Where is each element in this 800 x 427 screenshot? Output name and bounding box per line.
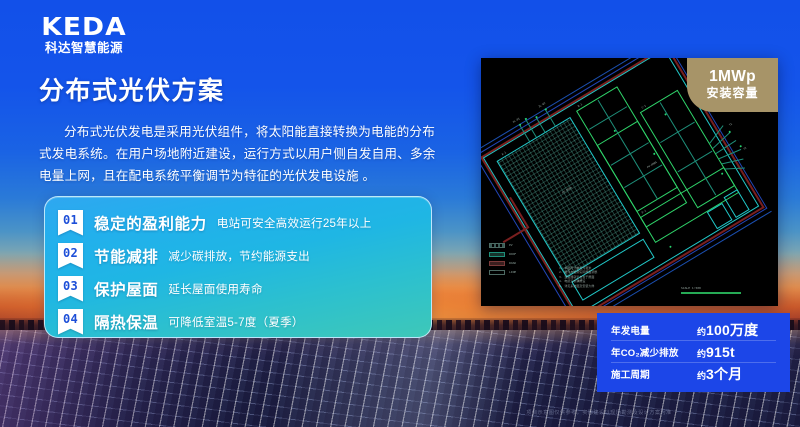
stat-value: 约915t <box>697 344 735 360</box>
cad-scale-bar: SCALE 1:500 <box>681 286 741 294</box>
footer-disclaimer-text: 项目示意图仅供参考，实际建设以现场勘测及设计方案为准 <box>526 409 671 417</box>
stat-row: 年CO₂减少排放 约915t <box>611 341 776 363</box>
stat-row: 年发电量 约100万度 <box>611 319 776 341</box>
feature-desc: 电站可安全高效运行25年以上 <box>217 215 372 231</box>
stat-prefix: 约 <box>697 327 706 337</box>
brand-logo: KEDA 科达智慧能源 <box>24 14 144 55</box>
cad-legend: PV ROOF ROAD LINE <box>489 242 545 278</box>
stat-prefix: 约 <box>697 349 706 359</box>
stats-panel: 年发电量 约100万度 年CO₂减少排放 约915t 施工周期 约3个月 <box>597 313 790 392</box>
capacity-badge: 1MWp 安装容量 <box>687 58 778 112</box>
stat-number: 100万度 <box>706 322 758 338</box>
cad-notes: 1. 本图尺寸单位为毫米 2. 组件布置按实际屋面调整 3. 逆变器就近布置于屋… <box>559 266 679 288</box>
intro-paragraph: 分布式光伏发电是采用光伏组件，将太阳能直接转换为电能的分布式发电系统。在用户场地… <box>39 121 444 187</box>
capacity-label: 安装容量 <box>706 86 758 101</box>
feature-item: 01 稳定的盈利能力 电站可安全高效运行25年以上 <box>45 206 431 239</box>
brand-logo-name: 科达智慧能源 <box>24 41 144 55</box>
feature-list-panel: 01 稳定的盈利能力 电站可安全高效运行25年以上 02 节能减排 减少碳排放，… <box>44 196 432 338</box>
feature-desc: 延长屋面使用寿命 <box>168 281 262 297</box>
feature-item: 02 节能减排 减少碳排放，节约能源支出 <box>45 239 431 272</box>
feature-title: 隔热保温 <box>94 311 158 333</box>
feature-title: 节能减排 <box>94 245 158 267</box>
stat-number: 3个月 <box>706 366 742 382</box>
feature-desc: 减少碳排放，节约能源支出 <box>168 248 310 264</box>
stat-label: 年CO₂减少排放 <box>611 345 697 359</box>
stat-number: 915t <box>706 344 735 360</box>
stat-value: 约100万度 <box>697 320 758 340</box>
number-badge-icon: 02 <box>58 243 83 269</box>
stat-label: 施工周期 <box>611 367 697 381</box>
brand-logo-mark: KEDA <box>20 14 147 40</box>
feature-number: 02 <box>63 243 78 263</box>
stat-value: 约3个月 <box>697 364 742 384</box>
feature-title: 稳定的盈利能力 <box>94 212 207 234</box>
feature-number: 04 <box>63 309 78 329</box>
feature-number: 03 <box>63 276 78 296</box>
number-badge-icon: 03 <box>58 276 83 302</box>
number-badge-icon: 01 <box>58 210 83 236</box>
number-badge-icon: 04 <box>58 309 83 335</box>
feature-desc: 可降低室温5-7度（夏季） <box>168 314 303 330</box>
slide-canvas: KEDA 科达智慧能源 分布式光伏方案 分布式光伏发电是采用光伏组件，将太阳能直… <box>0 0 800 427</box>
stat-label: 年发电量 <box>611 323 697 337</box>
stat-row: 施工周期 约3个月 <box>611 363 776 385</box>
footer-disclaimer: 项目示意图仅供参考，实际建设以现场勘测及设计方案为准 <box>0 409 800 417</box>
feature-number: 01 <box>63 210 78 230</box>
feature-title: 保护屋面 <box>94 278 158 300</box>
cad-site-plan-image: JL-01 JL-02 A-1 B-1 C-1 D-1 PV-AREA PV-A… <box>481 58 778 306</box>
stat-prefix: 约 <box>697 371 706 381</box>
feature-item: 03 保护屋面 延长屋面使用寿命 <box>45 272 431 305</box>
page-title: 分布式光伏方案 <box>39 76 225 106</box>
capacity-value: 1MWp <box>709 68 756 86</box>
feature-item: 04 隔热保温 可降低室温5-7度（夏季） <box>45 305 431 338</box>
cad-canvas: JL-01 JL-02 A-1 B-1 C-1 D-1 PV-AREA PV-A… <box>481 58 778 306</box>
